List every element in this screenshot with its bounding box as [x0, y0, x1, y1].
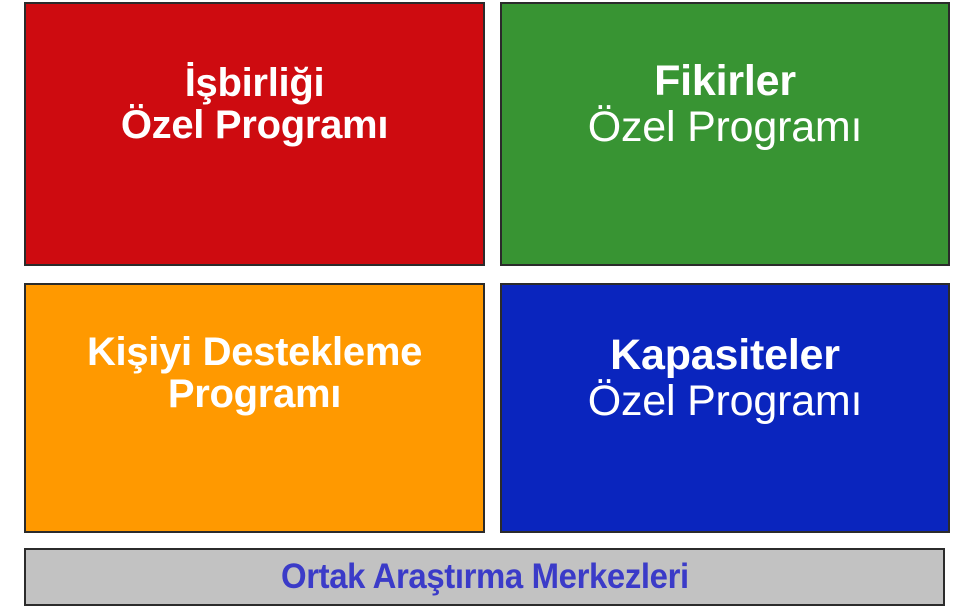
bar-joint-research-centres[interactable]: Ortak Araştırma Merkezleri — [24, 548, 945, 606]
card-capacities-line-2: Özel Programı — [508, 379, 942, 425]
program-structure-diagram: İşbirliği Özel Programı Fikirler Özel Pr… — [0, 0, 962, 614]
card-ideas[interactable]: Fikirler Özel Programı — [500, 2, 950, 266]
card-capacities[interactable]: Kapasiteler Özel Programı — [500, 283, 950, 533]
card-capacities-label: Kapasiteler Özel Programı — [502, 333, 948, 424]
card-capacities-line-1: Kapasiteler — [508, 333, 942, 379]
card-cooperation-label: İşbirliği Özel Programı — [26, 62, 483, 147]
card-ideas-line-2: Özel Programı — [508, 105, 942, 151]
card-ideas-line-1: Fikirler — [508, 59, 942, 105]
card-cooperation[interactable]: İşbirliği Özel Programı — [24, 2, 485, 266]
card-people-line-1: Kişiyi Destekleme — [32, 331, 477, 373]
card-cooperation-line-2: Özel Programı — [32, 104, 477, 146]
card-people[interactable]: Kişiyi Destekleme Programı — [24, 283, 485, 533]
card-people-label: Kişiyi Destekleme Programı — [26, 331, 483, 416]
card-people-line-2: Programı — [32, 373, 477, 415]
bar-joint-research-centres-label: Ortak Araştırma Merkezleri — [281, 557, 689, 597]
card-cooperation-line-1: İşbirliği — [32, 62, 477, 104]
card-ideas-label: Fikirler Özel Programı — [502, 59, 948, 150]
